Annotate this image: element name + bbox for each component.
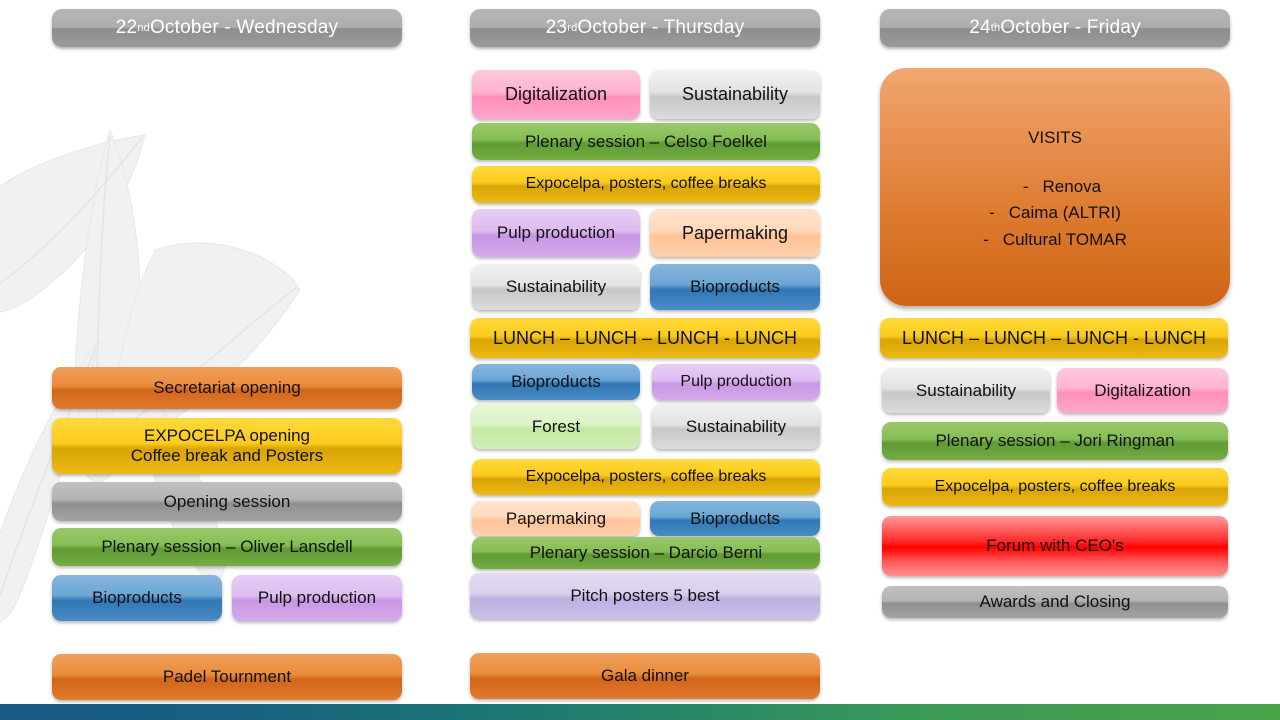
session-label: Digitalization — [1063, 381, 1222, 401]
day-header-rest: October - Wednesday — [150, 17, 338, 39]
session-label: Sustainability — [478, 277, 634, 297]
visits-title: VISITS — [880, 128, 1230, 148]
session-label: Pulp production — [478, 223, 634, 243]
session-block-pulp-production[interactable]: Pulp production — [232, 575, 402, 621]
session-block-digitalization[interactable]: Digitalization — [1057, 368, 1228, 413]
day-header-rest: October - Thursday — [577, 17, 744, 39]
session-block-expocelpa-posters-coffee-breaks[interactable]: Expocelpa, posters, coffee breaks — [882, 468, 1228, 506]
session-label: Sustainability — [888, 381, 1044, 401]
session-label: Bioproducts — [478, 372, 634, 392]
visits-item: -Renova — [880, 174, 1230, 200]
session-label: Opening session — [58, 492, 396, 512]
session-label: Padel Tournment — [58, 667, 396, 687]
day-header-number: 23 — [546, 17, 568, 39]
visits-panel[interactable]: VISITS -Renova -Caima (ALTRI) -Cultural … — [880, 68, 1230, 306]
day-header-1: 22nd October - Wednesday — [52, 9, 402, 47]
session-label: Sustainability — [658, 417, 814, 437]
session-label: Pulp production — [658, 373, 814, 391]
visits-dash: - — [983, 230, 989, 249]
session-block-sustainability[interactable]: Sustainability — [882, 368, 1050, 413]
session-block-gala-dinner[interactable]: Gala dinner — [470, 653, 820, 699]
session-block-forest[interactable]: Forest — [472, 404, 640, 449]
session-label: Pitch posters 5 best — [476, 586, 814, 606]
visits-item-label: Caima (ALTRI) — [1009, 203, 1121, 222]
slide-canvas: 22nd October - Wednesday Secretariat ope… — [0, 0, 1280, 720]
session-block-lunch[interactable]: LUNCH – LUNCH – LUNCH - LUNCH — [880, 318, 1228, 358]
session-block-bioproducts[interactable]: Bioproducts — [650, 501, 820, 536]
visits-item-label: Cultural TOMAR — [1003, 230, 1127, 249]
session-block-sustainability[interactable]: Sustainability — [472, 264, 640, 310]
session-label: Pulp production — [238, 588, 396, 608]
session-label: Expocelpa, posters, coffee breaks — [478, 468, 814, 486]
session-label: Awards and Closing — [888, 592, 1222, 612]
bottom-accent-bar — [0, 704, 1280, 720]
session-block-expocelpa-posters-coffee-breaks[interactable]: Expocelpa, posters, coffee breaks — [472, 166, 820, 203]
session-label: Bioproducts — [656, 509, 814, 529]
day-header-3: 24th October - Friday — [880, 9, 1230, 47]
session-label: Forum with CEO's — [888, 536, 1222, 556]
session-block-padel-tournment[interactable]: Padel Tournment — [52, 654, 402, 700]
session-block-digitalization[interactable]: Digitalization — [472, 70, 640, 119]
session-label: Digitalization — [478, 84, 634, 105]
session-label: LUNCH – LUNCH – LUNCH - LUNCH — [886, 328, 1222, 349]
session-label: Expocelpa, posters, coffee breaks — [888, 478, 1222, 496]
session-label: Plenary session – Jori Ringman — [888, 431, 1222, 451]
session-block-expocelpa-posters-coffee-breaks[interactable]: Expocelpa, posters, coffee breaks — [472, 459, 820, 495]
session-block-pulp-production[interactable]: Pulp production — [472, 209, 640, 257]
day-header-ordinal: th — [991, 22, 1001, 34]
session-block-plenary-session-jori-ringman[interactable]: Plenary session – Jori Ringman — [882, 422, 1228, 460]
visits-item: -Caima (ALTRI) — [880, 200, 1230, 226]
session-block-pitch-posters-5-best[interactable]: Pitch posters 5 best — [470, 573, 820, 619]
session-block-sustainability[interactable]: Sustainability — [652, 404, 820, 449]
session-block-bioproducts[interactable]: Bioproducts — [472, 364, 640, 400]
session-label: Bioproducts — [656, 277, 814, 297]
session-block-plenary-session-oliver-lansdell[interactable]: Plenary session – Oliver Lansdell — [52, 528, 402, 566]
session-block-expocelpa-opening[interactable]: EXPOCELPA opening Coffee break and Poste… — [52, 418, 402, 474]
session-block-plenary-session-celso-foelkel[interactable]: Plenary session – Celso Foelkel — [472, 123, 820, 160]
session-block-opening-session[interactable]: Opening session — [52, 482, 402, 521]
session-block-secretariat-opening[interactable]: Secretariat opening — [52, 367, 402, 409]
session-label: LUNCH – LUNCH – LUNCH - LUNCH — [476, 328, 814, 349]
session-label: Sustainability — [656, 84, 814, 105]
session-label: Expocelpa, posters, coffee breaks — [478, 175, 814, 193]
session-label: Forest — [478, 417, 634, 437]
session-label: Papermaking — [478, 509, 634, 529]
session-block-sustainability[interactable]: Sustainability — [650, 70, 820, 119]
visits-item: -Cultural TOMAR — [880, 227, 1230, 253]
session-block-awards-and-closing[interactable]: Awards and Closing — [882, 586, 1228, 618]
day-header-ordinal: rd — [567, 22, 577, 34]
session-label: Plenary session – Oliver Lansdell — [58, 537, 396, 557]
session-block-papermaking[interactable]: Papermaking — [472, 501, 640, 536]
session-block-pulp-production[interactable]: Pulp production — [652, 364, 820, 400]
session-label: Gala dinner — [476, 666, 814, 686]
visits-dash: - — [989, 203, 995, 222]
visits-dash: - — [1023, 177, 1029, 196]
session-block-papermaking[interactable]: Papermaking — [650, 209, 820, 257]
session-label: Papermaking — [656, 223, 814, 244]
session-label-line1: EXPOCELPA opening — [58, 426, 396, 446]
day-header-number: 24 — [969, 17, 991, 39]
session-block-bioproducts[interactable]: Bioproducts — [52, 575, 222, 621]
session-block-plenary-session-darcio-berni[interactable]: Plenary session – Darcio Berni — [472, 537, 820, 569]
day-header-2: 23rd October - Thursday — [470, 9, 820, 47]
session-block-lunch[interactable]: LUNCH – LUNCH – LUNCH - LUNCH — [470, 318, 820, 358]
day-header-rest: October - Friday — [1000, 17, 1140, 39]
session-label: Plenary session – Darcio Berni — [478, 543, 814, 563]
session-block-forum-with-ceos[interactable]: Forum with CEO's — [882, 516, 1228, 576]
visits-item-label: Renova — [1043, 177, 1102, 196]
session-block-bioproducts[interactable]: Bioproducts — [650, 264, 820, 310]
session-label: Bioproducts — [58, 588, 216, 608]
day-header-number: 22 — [116, 17, 138, 39]
visits-list: -Renova -Caima (ALTRI) -Cultural TOMAR — [880, 174, 1230, 253]
session-label-line2: Coffee break and Posters — [58, 446, 396, 466]
day-header-ordinal: nd — [137, 22, 150, 34]
session-label: Plenary session – Celso Foelkel — [478, 132, 814, 152]
session-label: Secretariat opening — [58, 378, 396, 398]
